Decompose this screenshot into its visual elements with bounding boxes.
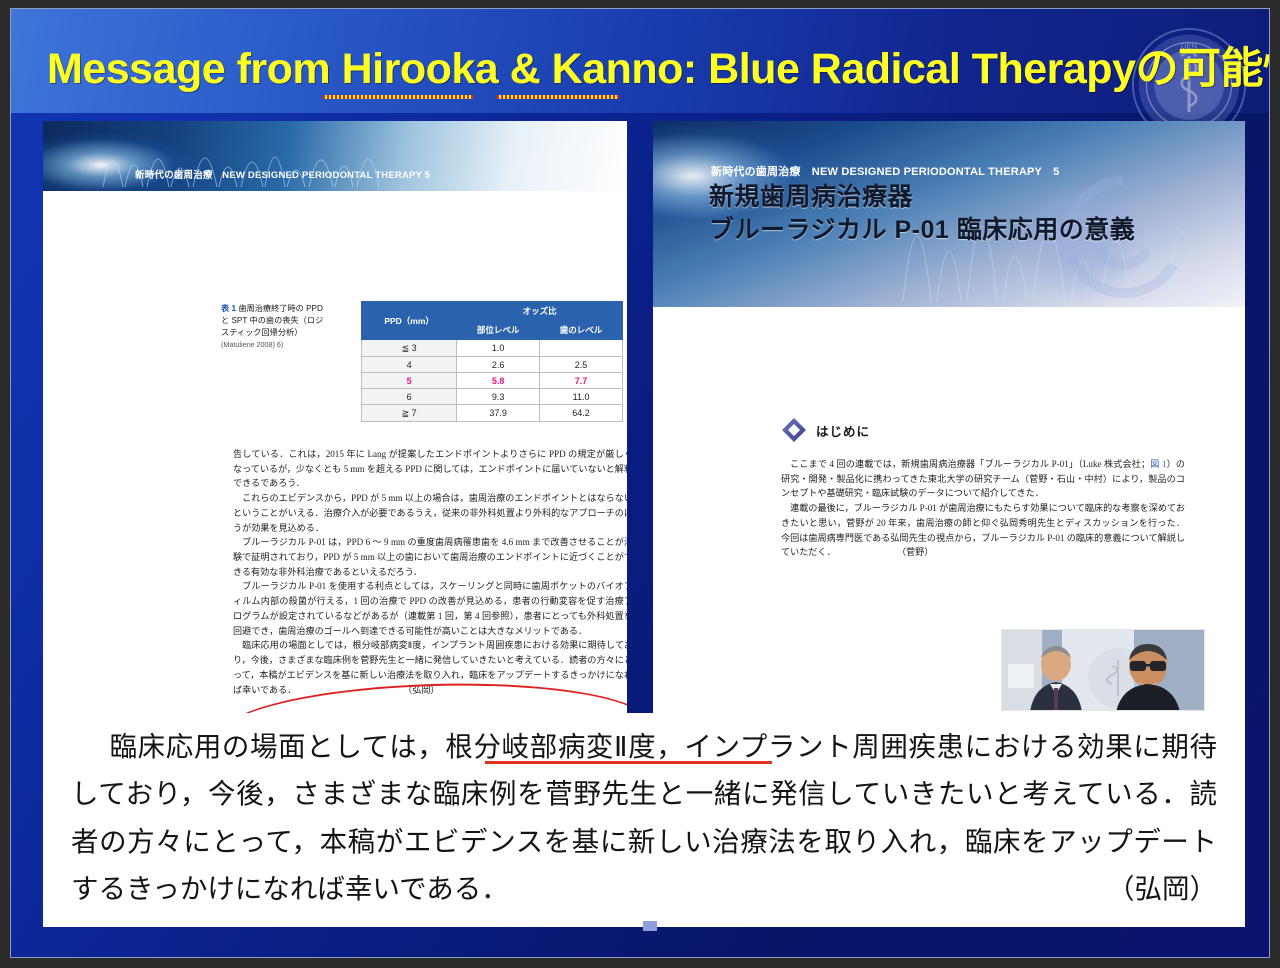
right-page-body-text: ここまで 4 回の連載では，新規歯周病治療器「ブルーラジカル P-01」（Luk…: [781, 457, 1185, 560]
article-title-line1: 新規歯周病治療器: [709, 181, 1135, 214]
ppd-odds-ratio-table: PPD（mm） オッズ比 部位レベル 歯のレベル ≦ 31.042.62.555…: [361, 301, 623, 422]
table-cell-site: 5.8: [457, 373, 540, 389]
article-title-line2: ブルーラジカル P-01 臨床応用の意義: [709, 214, 1135, 247]
quote-card-notch: [643, 921, 657, 931]
table-row: 55.87.7: [362, 373, 623, 389]
table-cell-tooth: 2.5: [540, 357, 623, 373]
article-title: 新規歯周病治療器 ブルーラジカル P-01 臨床応用の意義: [709, 181, 1135, 247]
table-cell-site: 2.6: [457, 357, 540, 373]
table-cell-ppd: 4: [362, 357, 457, 373]
body-paragraph: 告している．これは，2015 年に Lang が提案したエンドポイントよりさらに…: [233, 447, 627, 491]
quote-card: 臨床応用の場面としては，根分岐部病変Ⅱ度，インプラント周囲疾患における効果に期待…: [43, 713, 1245, 927]
th-ppd: PPD（mm）: [362, 302, 457, 340]
table-row: 69.311.0: [362, 389, 623, 405]
table-cell-tooth: 64.2: [540, 405, 623, 422]
left-page-kicker: 新時代の歯周治療 NEW DESIGNED PERIODONTAL THERAP…: [135, 167, 430, 181]
table-caption-text: 歯周治療終了時の PPD と SPT 中の歯の喪失（ロジスティック回帰分析）: [221, 304, 323, 337]
table-caption-lead: 表 1: [221, 304, 236, 313]
title-squiggle-underline-1: [323, 95, 473, 99]
body-paragraph: ここまで 4 回の連載では，新規歯周病治療器「ブルーラジカル P-01」（Luk…: [781, 457, 1185, 501]
title-squiggle-underline-2: [497, 95, 619, 99]
section-heading-row: はじめに: [781, 417, 870, 443]
table-cell-tooth: 11.0: [540, 389, 623, 405]
body-paragraph: 臨床応用の場面としては，根分岐部病変Ⅱ度，インプラント周囲疾患における効果に期待…: [233, 638, 627, 697]
photo-content: [1002, 630, 1205, 711]
right-page-scan: 新時代の歯周治療 NEW DESIGNED PERIODONTAL THERAP…: [653, 121, 1245, 719]
table-caption: 表 1 歯周治療終了時の PPD と SPT 中の歯の喪失（ロジスティック回帰分…: [221, 303, 329, 351]
table-cell-tooth: 7.7: [540, 373, 623, 389]
presentation-slide: CENTER DEN Message from Hirooka & Kanno:…: [10, 8, 1270, 958]
slide-frame: CENTER DEN Message from Hirooka & Kanno:…: [0, 0, 1280, 968]
table-cell-ppd: ≦ 3: [362, 340, 457, 357]
left-page-scan: 新時代の歯周治療 NEW DESIGNED PERIODONTAL THERAP…: [43, 121, 627, 719]
th-odds-group: オッズ比: [457, 302, 623, 321]
quote-red-underline-line1: [485, 761, 772, 764]
left-page-body-text: 告している．これは，2015 年に Lang が提案したエンドポイントよりさらに…: [233, 447, 627, 697]
quote-attribution: （弘岡）: [1107, 865, 1217, 912]
table-cell-tooth: [540, 340, 623, 357]
body-paragraph: ブルーラジカル P-01 は，PPD 6 〜 9 mm の重度歯周病罹患歯を 4…: [233, 535, 627, 579]
section-heading-label: はじめに: [816, 421, 870, 440]
body-paragraph: 連載の最後に，ブルーラジカル P-01 が歯周治療にもたらす効果について臨床的な…: [781, 501, 1185, 560]
table-row: ≧ 737.964.2: [362, 405, 623, 422]
right-page-kicker: 新時代の歯周治療 NEW DESIGNED PERIODONTAL THERAP…: [711, 163, 1059, 179]
table-cell-site: 1.0: [457, 340, 540, 357]
th-site-level: 部位レベル: [457, 321, 540, 340]
table-row: ≦ 31.0: [362, 340, 623, 357]
table-cell-ppd: 6: [362, 389, 457, 405]
table-cell-ppd: 5: [362, 373, 457, 389]
table-cell-site: 37.9: [457, 405, 540, 422]
page-title: Message from Hirooka & Kanno: Blue Radic…: [47, 47, 1247, 92]
th-tooth-level: 歯のレベル: [540, 321, 623, 340]
figure-reference-link[interactable]: 図 1: [1150, 459, 1166, 469]
table-cell-ppd: ≧ 7: [362, 405, 457, 422]
two-authors-photo: [1001, 629, 1205, 711]
table-row: 42.62.5: [362, 357, 623, 373]
body-paragraph: ブルーラジカル P-01 を使用する利点としては，スケーリングと同時に歯周ポケッ…: [233, 579, 627, 638]
table-cell-site: 9.3: [457, 389, 540, 405]
diamond-section-icon: [781, 417, 807, 443]
quote-text: 臨床応用の場面としては，根分岐部病変Ⅱ度，インプラント周囲疾患における効果に期待…: [71, 723, 1217, 912]
table-caption-source: (Matuliene 2008) 6): [221, 340, 283, 349]
body-paragraph: これらのエビデンスから，PPD が 5 mm 以上の場合は，歯周治療のエンドポイ…: [233, 491, 627, 535]
